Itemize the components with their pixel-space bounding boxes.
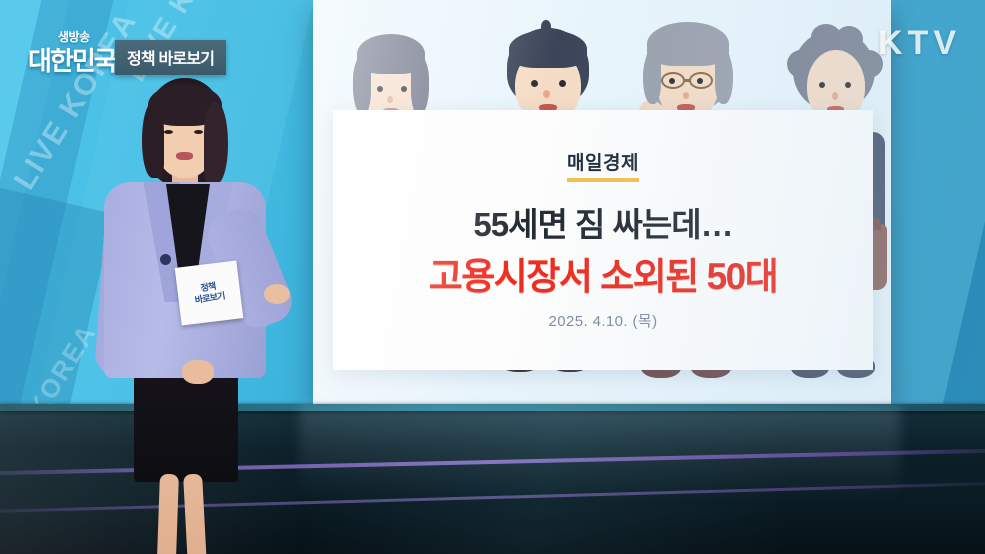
anchor-skirt [134, 370, 238, 482]
channel-logo-ktv: KTV [878, 24, 961, 63]
anchor-hair-side [204, 102, 228, 184]
anchor-held-card: 정책 바로보기 [175, 260, 244, 325]
news-graphic-panel: 매일경제 55세면 짐 싸는데… 고용시장서 소외된 50대 2025. 4.1… [313, 0, 891, 470]
anchor-eye [194, 130, 203, 134]
anchor-leg [156, 474, 179, 554]
broadcast-screen: LIVE KOREA LIVE KO LIVE KOREA [0, 0, 985, 554]
anchor-right-hand [264, 284, 290, 304]
program-title-banner: 정책 바로보기 [115, 40, 226, 75]
panel-glare [313, 0, 891, 470]
anchor-eye [164, 130, 173, 134]
anchor-leg [183, 474, 208, 554]
anchor-lapel-pin [160, 254, 171, 265]
anchor-held-card-text: 정책 바로보기 [192, 280, 225, 307]
station-logo-main: 대한민국 [28, 41, 116, 78]
news-anchor: 정책 바로보기 [96, 78, 276, 554]
anchor-hair-side [142, 102, 164, 178]
anchor-mouth [176, 152, 193, 160]
anchor-left-hand [182, 360, 214, 384]
